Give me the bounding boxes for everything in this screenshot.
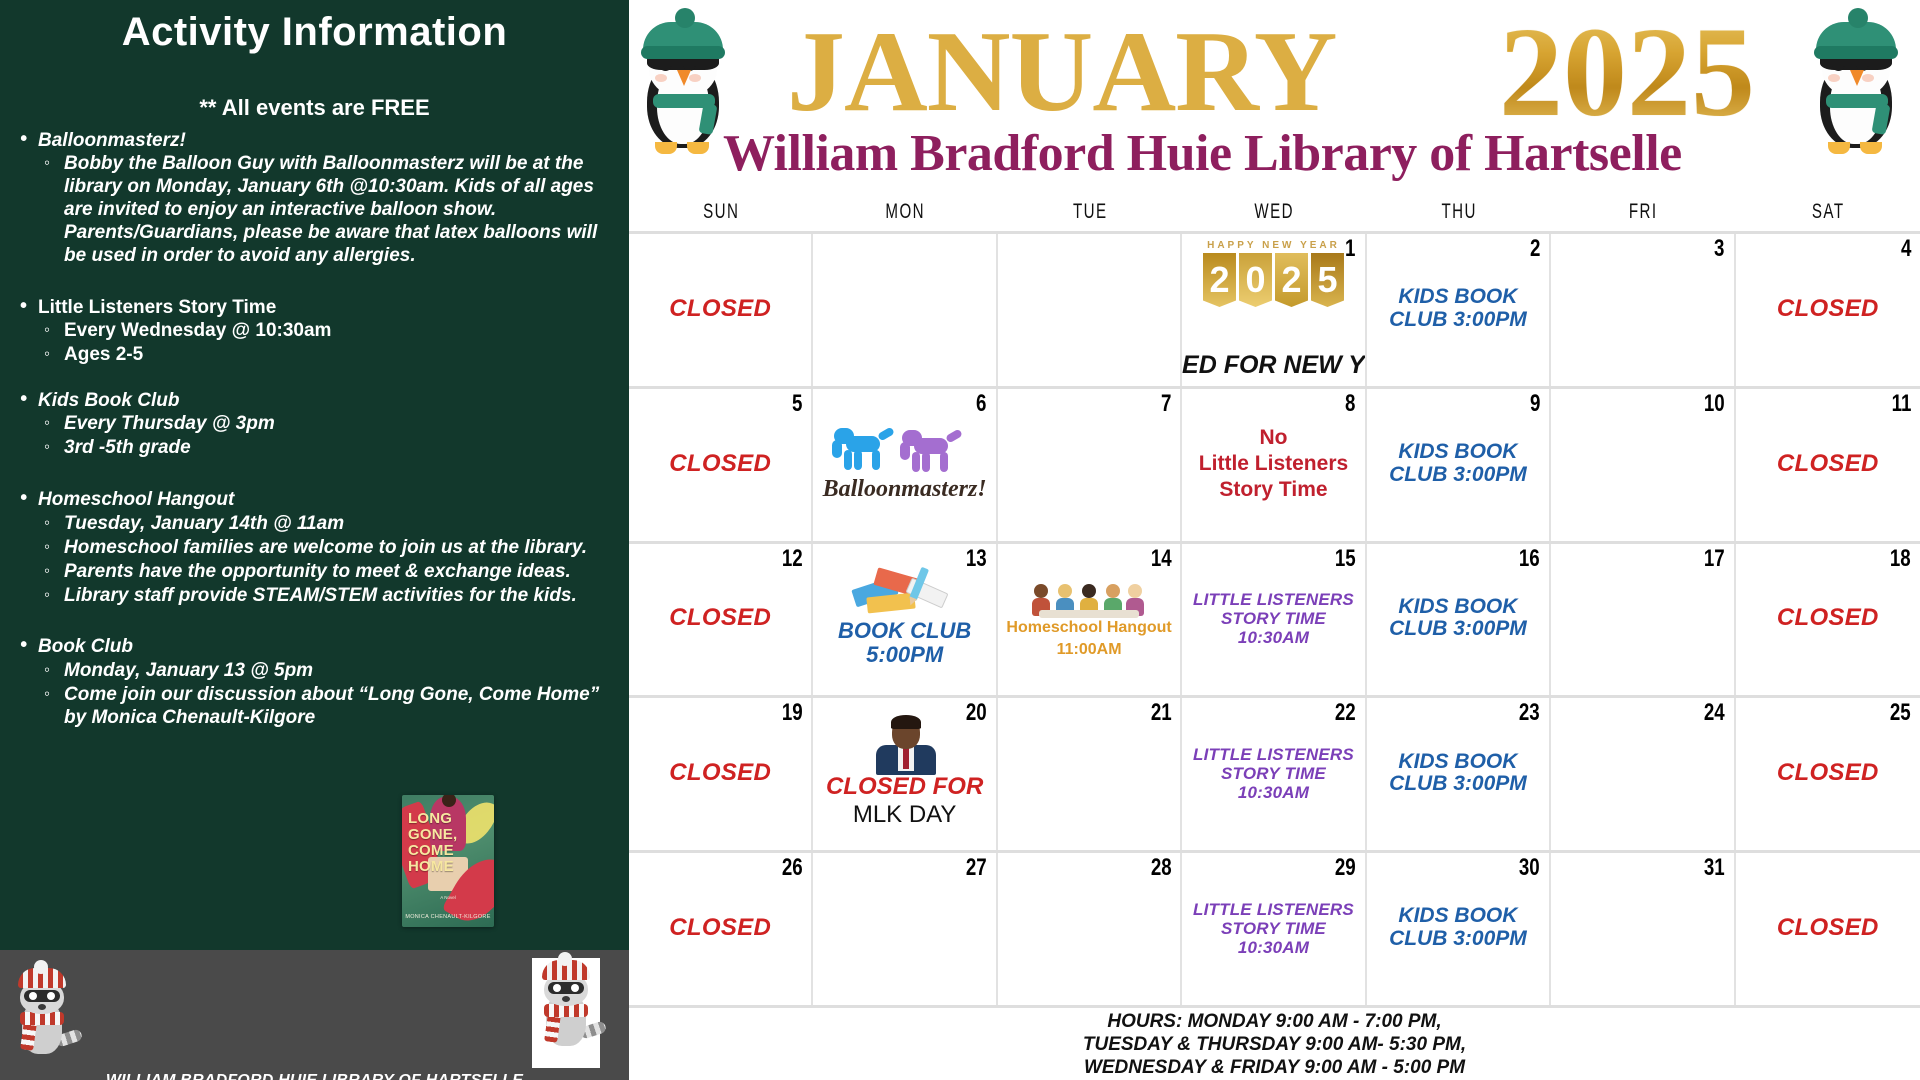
calendar-week-row: 5CLOSED6Balloonmasterz!78NoLittle Listen… bbox=[629, 389, 1920, 544]
activity-name: Book Club bbox=[8, 635, 621, 658]
day-name-thu: THU bbox=[1393, 200, 1526, 231]
day-number: 31 bbox=[1704, 854, 1725, 882]
calendar-day-23[interactable]: 23KIDS BOOK CLUB 3:00PM bbox=[1367, 698, 1551, 850]
day-cell-content: CLOSED bbox=[1744, 855, 1912, 1001]
calendar-day-21[interactable]: 21 bbox=[998, 698, 1182, 850]
day-cell-content: BOOK CLUB 5:00PM bbox=[821, 546, 987, 692]
list-item: Homeschool Hangout Tuesday, January 14th… bbox=[8, 488, 621, 607]
calendar-day-26[interactable]: 26CLOSED bbox=[629, 853, 813, 1005]
day-number: 10 bbox=[1704, 390, 1725, 418]
all-events-free-note: ** All events are FREE bbox=[8, 95, 621, 121]
calendar-day-30[interactable]: 30KIDS BOOK CLUB 3:00PM bbox=[1367, 853, 1551, 1005]
day-cell-content: LITTLE LISTENERS STORY TIME 10:30AM bbox=[1190, 546, 1356, 692]
day-name-row: SUN MON TUE WED THU FRI SAT bbox=[629, 200, 1920, 234]
day-event-label: BOOK CLUB 5:00PM bbox=[821, 619, 987, 667]
year-title: 2025 bbox=[1499, 8, 1755, 136]
activity-detail: 3rd -5th grade bbox=[42, 437, 621, 460]
spacer bbox=[8, 367, 621, 389]
activity-detail: Every Wednesday @ 10:30am bbox=[42, 320, 621, 343]
footer-library-name: WILLIAM BRADFORD HUIE LIBRARY OF HARTSEL… bbox=[0, 1072, 629, 1080]
activity-information-sidebar: Activity Information ** All events are F… bbox=[0, 0, 629, 1080]
calendar-day-29[interactable]: 29LITTLE LISTENERS STORY TIME 10:30AM bbox=[1182, 853, 1366, 1005]
activity-detail: Library staff provide STEAM/STEM activit… bbox=[42, 585, 621, 608]
calendar-day-28[interactable]: 28 bbox=[998, 853, 1182, 1005]
calendar-day-27[interactable]: 27 bbox=[813, 853, 997, 1005]
calendar-day-7[interactable]: 7 bbox=[998, 389, 1182, 541]
day-event-label: KIDS BOOK CLUB 3:00PM bbox=[1375, 751, 1541, 796]
day-cell-content: CLOSED bbox=[1744, 391, 1912, 537]
day-cell-content: CLOSED bbox=[1744, 700, 1912, 846]
activity-name: Kids Book Club bbox=[8, 389, 621, 412]
day-number: 8 bbox=[1345, 390, 1355, 418]
new-year-digit: 2 bbox=[1275, 253, 1308, 307]
book-cover-title: LONG GONE, COME HOME bbox=[408, 811, 490, 875]
sidebar-body: Activity Information ** All events are F… bbox=[0, 0, 629, 950]
day-name-fri: FRI bbox=[1577, 200, 1710, 231]
day-number: 11 bbox=[1891, 390, 1911, 418]
calendar-day-24[interactable]: 24 bbox=[1551, 698, 1735, 850]
raccoon-icon bbox=[532, 958, 600, 1068]
day-event-label: CLOSED bbox=[669, 450, 771, 478]
day-number: 4 bbox=[1901, 235, 1911, 263]
day-cell-content: KIDS BOOK CLUB 3:00PM bbox=[1375, 391, 1541, 537]
day-cell-content: CLOSED bbox=[1744, 546, 1912, 692]
day-number: 15 bbox=[1335, 545, 1356, 573]
calendar-day-empty[interactable]: CLOSED bbox=[1736, 853, 1920, 1005]
day-number: 17 bbox=[1704, 545, 1725, 573]
mlk-portrait-art bbox=[868, 717, 942, 773]
day-cell-content bbox=[1006, 855, 1172, 1001]
calendar-week-row: 26CLOSED272829LITTLE LISTENERS STORY TIM… bbox=[629, 853, 1920, 1008]
calendar-flyer: Activity Information ** All events are F… bbox=[0, 0, 1920, 1080]
calendar-day-empty[interactable] bbox=[813, 234, 997, 386]
activity-name: Little Listeners Story Time bbox=[8, 296, 621, 319]
day-event-label: CLOSED bbox=[1777, 295, 1879, 323]
day-name-sun: SUN bbox=[655, 200, 788, 231]
activity-detail: Tuesday, January 14th @ 11am bbox=[42, 513, 621, 536]
day-event-label: NoLittle ListenersStory Time bbox=[1199, 425, 1348, 502]
calendar-day-4[interactable]: 4CLOSED bbox=[1736, 234, 1920, 386]
raccoon-icon bbox=[8, 966, 76, 1076]
day-event-label: CLOSED bbox=[1777, 604, 1879, 632]
list-item: Little Listeners Story Time Every Wednes… bbox=[8, 296, 621, 367]
day-number: 12 bbox=[782, 545, 803, 573]
book-club-art bbox=[849, 569, 961, 617]
day-event-label: KIDS BOOK CLUB 3:00PM bbox=[1375, 596, 1541, 641]
day-number: 13 bbox=[966, 545, 987, 573]
new-year-digit: 2 bbox=[1203, 253, 1236, 307]
day-event-label: CLOSED FOR NEW YEARS bbox=[1182, 351, 1366, 380]
sidebar-title: Activity Information bbox=[8, 10, 621, 55]
activity-detail: Come join our discussion about “Long Gon… bbox=[42, 684, 621, 730]
day-name-mon: MON bbox=[839, 200, 972, 231]
day-number: 29 bbox=[1335, 854, 1356, 882]
new-year-digit: 0 bbox=[1239, 253, 1272, 307]
spacer bbox=[8, 607, 621, 635]
day-cell-content: LITTLE LISTENERS STORY TIME 10:30AM bbox=[1190, 855, 1356, 1001]
calendar-day-18[interactable]: 18CLOSED bbox=[1736, 544, 1920, 696]
activity-name: Balloonmasterz! bbox=[8, 129, 621, 152]
new-year-art: HAPPY NEW YEAR2025 bbox=[1199, 240, 1347, 307]
day-number: 9 bbox=[1530, 390, 1540, 418]
balloonmasterz-art: Balloonmasterz! bbox=[823, 424, 987, 503]
day-cell-content: NoLittle ListenersStory Time bbox=[1190, 391, 1356, 537]
activity-details: Bobby the Balloon Guy with Balloonmaster… bbox=[42, 153, 621, 268]
activity-detail: Monday, January 13 @ 5pm bbox=[42, 660, 621, 683]
new-year-digit: 5 bbox=[1311, 253, 1344, 307]
list-item: Kids Book Club Every Thursday @ 3pm 3rd … bbox=[8, 389, 621, 460]
list-item: Balloonmasterz! Bobby the Balloon Guy wi… bbox=[8, 129, 621, 268]
day-cell-content: CLOSED bbox=[637, 391, 803, 537]
month-title: JANUARY bbox=[787, 14, 1337, 130]
day-number: 25 bbox=[1890, 699, 1911, 727]
spacer bbox=[8, 460, 621, 488]
day-cell-content: CLOSED bbox=[637, 546, 803, 692]
activity-detail: Every Thursday @ 3pm bbox=[42, 413, 621, 436]
balloonmasterz-wordmark: Balloonmasterz! bbox=[823, 476, 987, 503]
day-number: 6 bbox=[976, 390, 986, 418]
day-cell-content: Homeschool Hangout 11:00AM bbox=[1006, 546, 1172, 692]
day-cell-content bbox=[1559, 236, 1725, 382]
activity-detail: Ages 2-5 bbox=[42, 344, 621, 367]
calendar-day-5[interactable]: 5CLOSED bbox=[629, 389, 813, 541]
day-cell-content: KIDS BOOK CLUB 3:00PM bbox=[1375, 700, 1541, 846]
day-cell-content: CLOSED bbox=[637, 700, 803, 846]
day-number: 27 bbox=[966, 854, 987, 882]
day-event-label: CLOSED bbox=[669, 914, 771, 942]
calendar-day-14[interactable]: 14Homeschool Hangout 11:00AM bbox=[998, 544, 1182, 696]
day-number: 28 bbox=[1150, 854, 1171, 882]
calendar-day-6[interactable]: 6Balloonmasterz! bbox=[813, 389, 997, 541]
calendar-day-20[interactable]: 20CLOSED FORMLK DAY bbox=[813, 698, 997, 850]
day-cell-content bbox=[1006, 700, 1172, 846]
calendar-week-row: 12CLOSED13BOOK CLUB 5:00PM14Homeschool H… bbox=[629, 544, 1920, 699]
book-cover-author: MONICA CHENAULT-KILGORE bbox=[402, 914, 494, 920]
calendar-day-12[interactable]: 12CLOSED bbox=[629, 544, 813, 696]
day-number: 18 bbox=[1890, 545, 1911, 573]
calendar-week-row: CLOSED1HAPPY NEW YEAR2025CLOSED FOR NEW … bbox=[629, 234, 1920, 389]
day-number: 3 bbox=[1714, 235, 1724, 263]
day-number: 7 bbox=[1161, 390, 1171, 418]
day-event-label: CLOSED bbox=[669, 295, 771, 323]
library-hours: HOURS: MONDAY 9:00 AM - 7:00 PM, TUESDAY… bbox=[629, 1008, 1920, 1080]
calendar-day-3[interactable]: 3 bbox=[1551, 234, 1735, 386]
calendar-day-15[interactable]: 15LITTLE LISTENERS STORY TIME 10:30AM bbox=[1182, 544, 1366, 696]
day-number: 21 bbox=[1150, 699, 1171, 727]
library-contact-footer: WILLIAM BRADFORD HUIE LIBRARY OF HARTSEL… bbox=[0, 950, 629, 1080]
day-event-label: LITTLE LISTENERS STORY TIME 10:30AM bbox=[1190, 745, 1356, 802]
library-title: William Bradford Huie Library of Hartsel… bbox=[723, 128, 1682, 180]
day-event-label: CLOSED bbox=[669, 604, 771, 632]
day-cell-content: LITTLE LISTENERS STORY TIME 10:30AM bbox=[1190, 700, 1356, 846]
day-number: 20 bbox=[966, 699, 987, 727]
penguin-icon bbox=[1802, 8, 1914, 178]
calendar-weeks: CLOSED1HAPPY NEW YEAR2025CLOSED FOR NEW … bbox=[629, 234, 1920, 1008]
day-number: 14 bbox=[1150, 545, 1171, 573]
day-cell-content bbox=[1559, 391, 1725, 537]
day-cell-content bbox=[1006, 391, 1172, 537]
day-cell-content: KIDS BOOK CLUB 3:00PM bbox=[1375, 855, 1541, 1001]
day-event-label: KIDS BOOK CLUB 3:00PM bbox=[1375, 905, 1541, 950]
day-cell-content bbox=[1559, 855, 1725, 1001]
day-name-wed: WED bbox=[1208, 200, 1341, 231]
day-event-label: MLK DAY bbox=[853, 801, 957, 829]
calendar-day-empty[interactable] bbox=[998, 234, 1182, 386]
day-number: 16 bbox=[1519, 545, 1540, 573]
calendar-day-9[interactable]: 9KIDS BOOK CLUB 3:00PM bbox=[1367, 389, 1551, 541]
calendar-header: JANUARY 2025 William Bradford Huie Libra… bbox=[629, 0, 1920, 200]
calendar-day-13[interactable]: 13BOOK CLUB 5:00PM bbox=[813, 544, 997, 696]
calendar-day-19[interactable]: 19CLOSED bbox=[629, 698, 813, 850]
calendar-day-16[interactable]: 16KIDS BOOK CLUB 3:00PM bbox=[1367, 544, 1551, 696]
day-cell-content: KIDS BOOK CLUB 3:00PM bbox=[1375, 236, 1541, 382]
day-event-label: KIDS BOOK CLUB 3:00PM bbox=[1375, 441, 1541, 486]
day-name-sat: SAT bbox=[1761, 200, 1894, 231]
day-event-label: LITTLE LISTENERS STORY TIME 10:30AM bbox=[1190, 590, 1356, 647]
day-number: 30 bbox=[1519, 854, 1540, 882]
list-item: Book Club Monday, January 13 @ 5pm Come … bbox=[8, 635, 621, 729]
activity-details: Tuesday, January 14th @ 11am Homeschool … bbox=[42, 513, 621, 608]
activity-details: Every Thursday @ 3pm 3rd -5th grade bbox=[42, 413, 621, 460]
day-event-label: CLOSED bbox=[1777, 759, 1879, 787]
day-cell-content: CLOSED bbox=[637, 236, 803, 382]
calendar-day-2[interactable]: 2KIDS BOOK CLUB 3:00PM bbox=[1367, 234, 1551, 386]
day-number: 26 bbox=[782, 854, 803, 882]
day-cell-content bbox=[1559, 700, 1725, 846]
day-number: 22 bbox=[1335, 699, 1356, 727]
day-number: 19 bbox=[782, 699, 803, 727]
day-cell-content: CLOSED bbox=[1744, 236, 1912, 382]
hours-line: TUESDAY & THURSDAY 9:00 AM- 5:30 PM, bbox=[629, 1034, 1920, 1057]
activity-detail: Homeschool families are welcome to join … bbox=[42, 537, 621, 560]
day-cell-content: CLOSED FORMLK DAY bbox=[821, 700, 987, 846]
day-cell-content: Balloonmasterz! bbox=[821, 391, 987, 537]
book-cover-image: LONG GONE, COME HOME A Novel MONICA CHEN… bbox=[402, 795, 494, 927]
calendar-week-row: 19CLOSED20CLOSED FORMLK DAY2122LITTLE LI… bbox=[629, 698, 1920, 853]
day-number: 23 bbox=[1519, 699, 1540, 727]
day-event-label: CLOSED bbox=[1777, 914, 1879, 942]
day-cell-content: KIDS BOOK CLUB 3:00PM bbox=[1375, 546, 1541, 692]
day-number: 2 bbox=[1530, 235, 1540, 263]
calendar-day-11[interactable]: 11CLOSED bbox=[1736, 389, 1920, 541]
activity-detail: Parents have the opportunity to meet & e… bbox=[42, 561, 621, 584]
day-cell-content bbox=[1006, 236, 1172, 382]
day-event-label: KIDS BOOK CLUB 3:00PM bbox=[1375, 286, 1541, 331]
activity-details: Monday, January 13 @ 5pm Come join our d… bbox=[42, 660, 621, 730]
day-name-tue: TUE bbox=[1024, 200, 1157, 231]
day-number: 5 bbox=[792, 390, 802, 418]
activity-details: Every Wednesday @ 10:30am Ages 2-5 bbox=[42, 320, 621, 367]
day-event-label: Homeschool Hangout 11:00AM bbox=[1006, 617, 1172, 662]
day-event-label: LITTLE LISTENERS STORY TIME 10:30AM bbox=[1190, 900, 1356, 957]
calendar-day-25[interactable]: 25CLOSED bbox=[1736, 698, 1920, 850]
calendar-panel: JANUARY 2025 William Bradford Huie Libra… bbox=[629, 0, 1920, 1080]
day-cell-content bbox=[821, 236, 987, 382]
day-number: 24 bbox=[1704, 699, 1725, 727]
happy-new-year-label: HAPPY NEW YEAR bbox=[1199, 240, 1347, 251]
day-cell-content bbox=[821, 855, 987, 1001]
day-cell-content: CLOSED bbox=[637, 855, 803, 1001]
day-event-label: CLOSED bbox=[669, 759, 771, 787]
calendar-day-17[interactable]: 17 bbox=[1551, 544, 1735, 696]
activity-detail: Bobby the Balloon Guy with Balloonmaster… bbox=[42, 153, 621, 268]
activity-list: Balloonmasterz! Bobby the Balloon Guy wi… bbox=[8, 129, 621, 730]
day-event-label: CLOSED FOR bbox=[826, 773, 983, 801]
calendar-day-8[interactable]: 8NoLittle ListenersStory Time bbox=[1182, 389, 1366, 541]
calendar-day-22[interactable]: 22LITTLE LISTENERS STORY TIME 10:30AM bbox=[1182, 698, 1366, 850]
book-cover-subtitle: A Novel bbox=[402, 895, 494, 901]
hours-line: HOURS: MONDAY 9:00 AM - 7:00 PM, bbox=[629, 1011, 1920, 1034]
spacer bbox=[8, 268, 621, 296]
calendar-day-10[interactable]: 10 bbox=[1551, 389, 1735, 541]
calendar-day-31[interactable]: 31 bbox=[1551, 853, 1735, 1005]
activity-name: Homeschool Hangout bbox=[8, 488, 621, 511]
hours-line: WEDNESDAY & FRIDAY 9:00 AM - 5:00 PM bbox=[629, 1057, 1920, 1080]
day-cell-content bbox=[1559, 546, 1725, 692]
day-event-label: CLOSED bbox=[1777, 450, 1879, 478]
calendar-day-1[interactable]: 1HAPPY NEW YEAR2025CLOSED FOR NEW YEARS bbox=[1182, 234, 1366, 386]
homeschool-hangout-art bbox=[1029, 576, 1149, 616]
calendar-day-empty[interactable]: CLOSED bbox=[629, 234, 813, 386]
